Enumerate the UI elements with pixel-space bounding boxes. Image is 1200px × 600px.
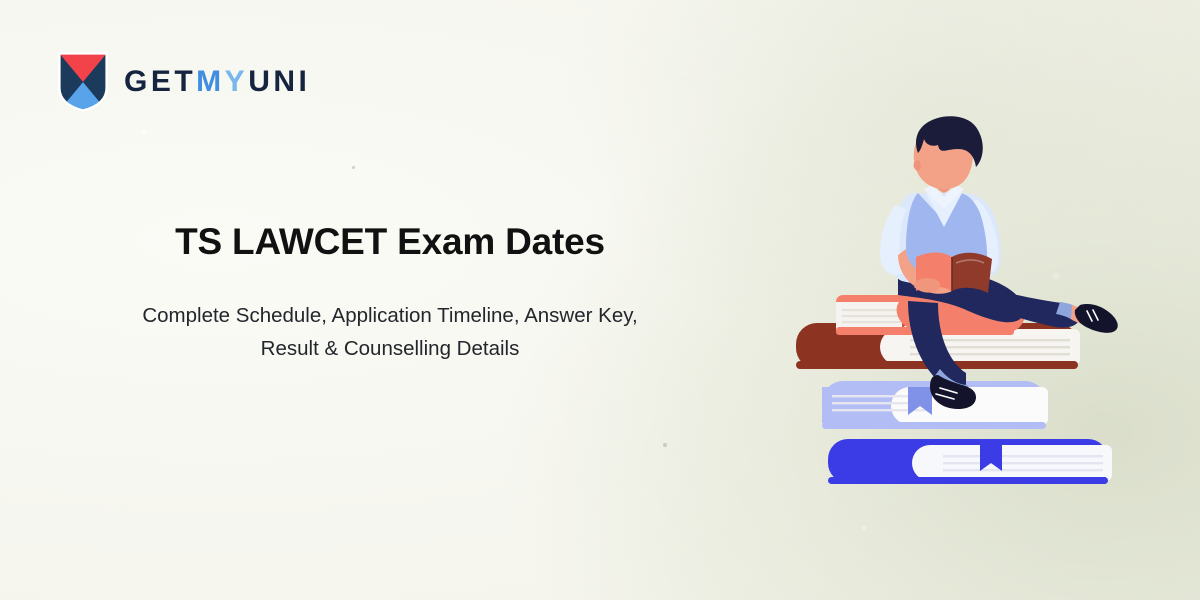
promo-banner: GETMYUNI TS LAWCET Exam Dates Complete S… bbox=[0, 0, 1200, 600]
background-speck bbox=[663, 443, 667, 447]
wordmark-uni: UNI bbox=[248, 65, 310, 98]
wordmark-y: Y bbox=[225, 65, 249, 98]
page-subtitle: Complete Schedule, Application Timeline,… bbox=[60, 299, 720, 366]
shield-x-icon bbox=[58, 52, 108, 112]
background-speck bbox=[352, 166, 355, 169]
wordmark-m: M bbox=[196, 65, 225, 98]
page-subtitle-line-2: Result & Counselling Details bbox=[60, 332, 720, 365]
student-reading-on-book-stack bbox=[780, 105, 1180, 505]
wordmark-get: GET bbox=[124, 65, 196, 98]
book-royal-blue bbox=[828, 439, 1112, 484]
getmyuni-wordmark: GETMYUNI bbox=[124, 67, 310, 97]
page-subtitle-line-1: Complete Schedule, Application Timeline,… bbox=[60, 299, 720, 332]
page-title: TS LAWCET Exam Dates bbox=[60, 221, 720, 264]
getmyuni-logo[interactable]: GETMYUNI bbox=[58, 52, 310, 112]
student-reading-illustration bbox=[780, 105, 1180, 505]
shoe-right-icon bbox=[1075, 304, 1118, 333]
